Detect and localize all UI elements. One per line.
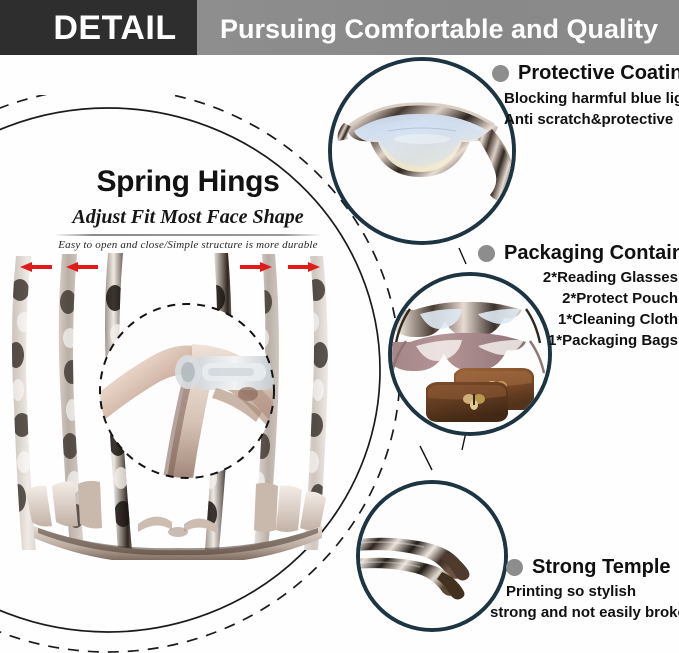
feature-block-packaging: Packaging Contains 2*Reading Glasses 2*P… [478, 242, 679, 351]
eyeglasses-front-photo [18, 470, 338, 560]
bullet-dot-icon [506, 559, 523, 576]
header-badge-label: DETAIL [40, 6, 190, 50]
feature-line: strong and not easily broken [490, 602, 679, 623]
arrow-right-2 [288, 262, 320, 272]
spring-hinge-closeup-photo [96, 300, 278, 482]
feature-lines: 2*Reading Glasses 2*Protect Pouch 1*Clea… [478, 267, 678, 351]
feature-line: Printing so stylish [506, 581, 679, 602]
feature-block-strong-temple: Strong Temple Printing so stylish strong… [506, 556, 679, 623]
header-subtitle: Pursuing Comfortable and Quality [206, 9, 672, 49]
feature-block-protective-coating: Protective Coating Blocking harmful blue… [492, 62, 679, 130]
left-panel-subtitle: Adjust Fit Most Face Shape [38, 205, 338, 229]
divider-rule [54, 234, 322, 236]
feature-heading: Packaging Contains [478, 242, 679, 264]
temple-arms-closeup-illustration [360, 484, 504, 628]
feature-line: Anti scratch&protective [504, 109, 679, 130]
photo-circle-strong-temple [356, 480, 508, 632]
feature-line: 1*Cleaning Cloth [478, 309, 678, 330]
product-detail-image: DETAIL Pursuing Comfortable and Quality … [0, 0, 679, 653]
arrow-right-1 [240, 262, 272, 272]
header-banner: DETAIL Pursuing Comfortable and Quality [0, 0, 679, 55]
arrow-left-2 [66, 262, 98, 272]
adjust-direction-arrows [0, 250, 340, 290]
feature-lines: Printing so stylish strong and not easil… [506, 581, 679, 623]
feature-title: Strong Temple [532, 556, 671, 578]
feature-lines: Blocking harmful blue light Anti scratch… [492, 88, 679, 130]
left-panel-title: Spring Hings [38, 165, 338, 199]
bullet-dot-icon [478, 245, 495, 262]
feature-line: 2*Protect Pouch [478, 288, 678, 309]
feature-line: 1*Packaging Bags [478, 330, 678, 351]
feature-title: Packaging Contains [504, 242, 679, 264]
bullet-dot-icon [492, 65, 509, 82]
feature-line: 2*Reading Glasses [478, 267, 678, 288]
feature-title: Protective Coating [518, 62, 679, 84]
photo-circle-protective-coating [328, 57, 516, 245]
feature-heading: Strong Temple [506, 556, 679, 578]
feature-heading: Protective Coating [492, 62, 679, 84]
coating-glasses-illustration [332, 61, 512, 241]
arrow-left-1 [20, 262, 52, 272]
feature-line: Blocking harmful blue light [504, 88, 679, 109]
